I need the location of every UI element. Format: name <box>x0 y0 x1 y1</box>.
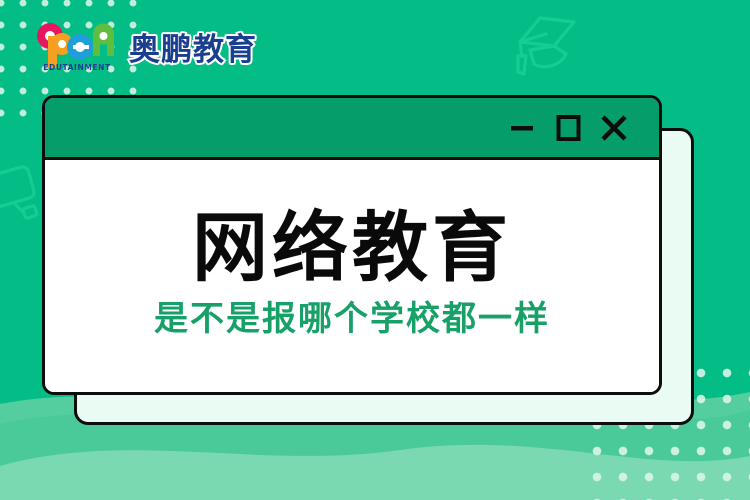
monitor-icon <box>0 163 48 229</box>
open-edutainment-logo-icon: EDUTAINMENT <box>33 20 121 72</box>
close-icon <box>597 111 631 145</box>
maximize-icon <box>551 111 585 145</box>
window-body: 网络教育 是不是报哪个学校都一样 <box>45 160 659 392</box>
window-titlebar <box>45 98 659 160</box>
svg-text:EDUTAINMENT: EDUTAINMENT <box>43 63 111 72</box>
minimize-button[interactable] <box>499 105 545 151</box>
minimize-icon <box>505 111 539 145</box>
page-subtitle: 是不是报哪个学校都一样 <box>154 302 550 336</box>
poster-canvas: EDUTAINMENT 奥鹏教育 <box>0 0 750 500</box>
maximize-button[interactable] <box>545 105 591 151</box>
brand-name: 奥鹏教育 <box>129 24 257 69</box>
graduation-cap-icon <box>508 12 588 84</box>
close-button[interactable] <box>591 105 637 151</box>
brand-logo: EDUTAINMENT 奥鹏教育 <box>33 18 257 74</box>
page-title: 网络教育 <box>192 210 512 286</box>
window-card: 网络教育 是不是报哪个学校都一样 <box>42 95 662 395</box>
